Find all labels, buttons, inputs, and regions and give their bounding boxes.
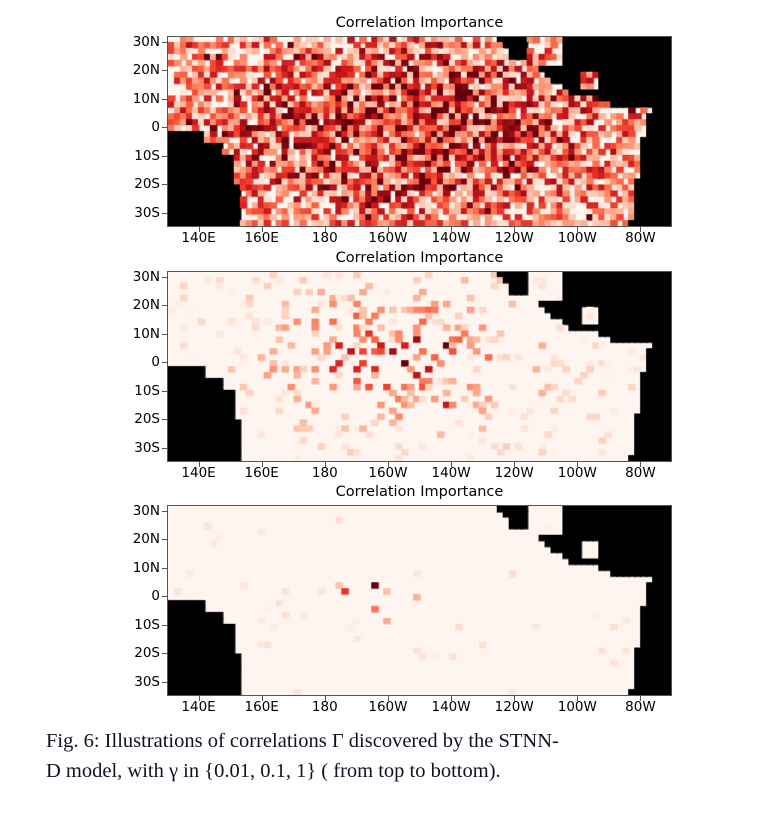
y-tick-label: 0 [112, 354, 160, 370]
x-tick-label: 120W [495, 465, 534, 481]
x-tick-label: 160W [368, 699, 407, 715]
x-tick-label: 160W [368, 230, 407, 246]
heatmap-canvas-3 [168, 506, 671, 695]
y-tick-mark [162, 213, 167, 214]
x-tick-label: 100W [558, 699, 597, 715]
caption-line-1: Fig. 6: Illustrations of correlations Γ … [46, 726, 746, 756]
y-tick-mark [162, 156, 167, 157]
y-tick-label: 0 [112, 588, 160, 604]
y-tick-label: 30N [112, 503, 160, 519]
x-tick-label: 80W [625, 699, 656, 715]
panel-title-3: Correlation Importance [167, 484, 672, 500]
y-tick-label: 30N [112, 269, 160, 285]
y-tick-label: 30S [112, 205, 160, 221]
x-tick-label: 120W [495, 230, 534, 246]
y-tick-mark [162, 127, 167, 128]
panel-title-1: Correlation Importance [167, 15, 672, 31]
y-tick-label: 20N [112, 297, 160, 313]
y-tick-label: 10N [112, 326, 160, 342]
panel-title-2: Correlation Importance [167, 250, 672, 266]
y-tick-mark [162, 70, 167, 71]
y-tick-label: 20S [112, 411, 160, 427]
plot-area-2[interactable] [167, 271, 672, 462]
y-tick-mark [162, 625, 167, 626]
y-tick-label: 0 [112, 119, 160, 135]
y-tick-label: 10S [112, 617, 160, 633]
y-tick-mark [162, 334, 167, 335]
x-tick-label: 140W [432, 230, 471, 246]
x-tick-label: 160E [245, 699, 279, 715]
x-tick-label: 140E [181, 465, 215, 481]
y-tick-mark [162, 362, 167, 363]
y-tick-label: 20S [112, 176, 160, 192]
x-tick-label: 80W [625, 465, 656, 481]
x-tick-label: 140E [181, 230, 215, 246]
y-tick-mark [162, 277, 167, 278]
y-tick-label: 10S [112, 148, 160, 164]
y-tick-mark [162, 419, 167, 420]
y-tick-mark [162, 99, 167, 100]
y-tick-label: 10S [112, 383, 160, 399]
y-tick-mark [162, 653, 167, 654]
x-tick-label: 140W [432, 465, 471, 481]
x-tick-label: 120W [495, 699, 534, 715]
y-tick-label: 30S [112, 674, 160, 690]
y-tick-mark [162, 391, 167, 392]
y-tick-mark [162, 568, 167, 569]
caption-line-2: D model, with γ in {0.01, 0.1, 1} ( from… [46, 756, 746, 786]
y-tick-label: 30N [112, 34, 160, 50]
figure-caption: Fig. 6: Illustrations of correlations Γ … [46, 726, 746, 786]
y-tick-mark [162, 682, 167, 683]
x-tick-label: 180 [312, 699, 338, 715]
y-tick-mark [162, 184, 167, 185]
y-tick-mark [162, 596, 167, 597]
y-tick-label: 20N [112, 62, 160, 78]
y-tick-label: 10N [112, 91, 160, 107]
x-tick-label: 140W [432, 699, 471, 715]
heatmap-canvas-2 [168, 272, 671, 461]
x-tick-label: 100W [558, 230, 597, 246]
plot-area-3[interactable] [167, 505, 672, 696]
x-tick-label: 160W [368, 465, 407, 481]
heatmap-canvas-1 [168, 37, 671, 226]
x-tick-label: 180 [312, 230, 338, 246]
y-tick-mark [162, 539, 167, 540]
x-tick-label: 100W [558, 465, 597, 481]
x-tick-label: 160E [245, 230, 279, 246]
y-tick-mark [162, 42, 167, 43]
y-tick-mark [162, 511, 167, 512]
figure-container: Correlation Importance 30N20N10N010S20S3… [0, 0, 780, 816]
x-tick-label: 180 [312, 465, 338, 481]
x-tick-label: 140E [181, 699, 215, 715]
y-tick-label: 20S [112, 645, 160, 661]
x-tick-label: 160E [245, 465, 279, 481]
y-tick-label: 30S [112, 440, 160, 456]
x-tick-label: 80W [625, 230, 656, 246]
y-tick-label: 10N [112, 560, 160, 576]
y-tick-mark [162, 305, 167, 306]
y-tick-label: 20N [112, 531, 160, 547]
y-tick-mark [162, 448, 167, 449]
plot-area-1[interactable] [167, 36, 672, 227]
